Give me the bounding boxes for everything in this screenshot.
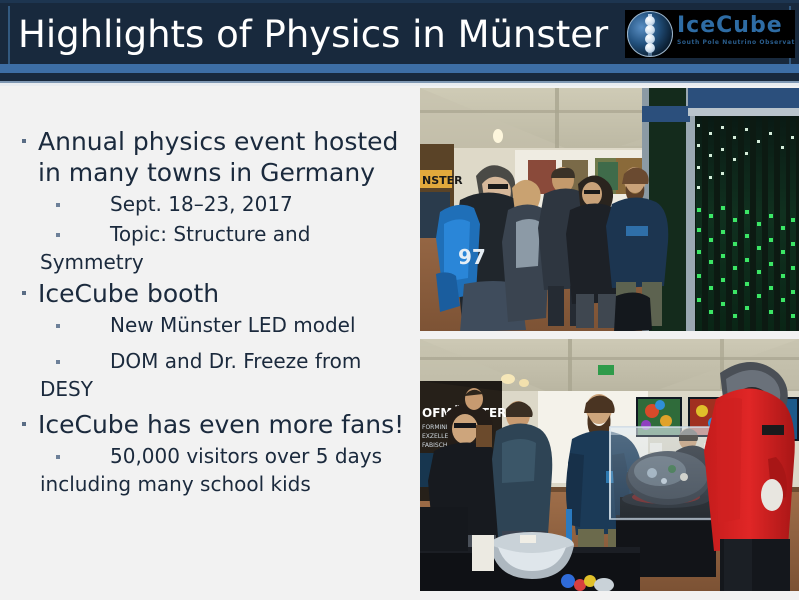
sub-bullet-marker-icon: [56, 203, 60, 207]
sub-bullet-item: 50,000 visitors over 5 days including ma…: [0, 442, 420, 498]
slide: Highlights of Physics in Münster IceCube…: [0, 0, 799, 600]
bullet-item: IceCube booth: [0, 278, 420, 309]
sub-bullet-item: New Münster LED model: [0, 311, 420, 339]
sub-bullet-text: DOM and Dr. Freeze from DESY: [40, 347, 420, 403]
sub-bullet-text: New Münster LED model: [40, 311, 420, 339]
svg-text:NSTER: NSTER: [422, 174, 463, 187]
bullet-text: IceCube has even more fans!: [38, 410, 404, 439]
logo-wordmark: IceCube South Pole Neutrino Observatory: [677, 14, 793, 47]
logo-name: IceCube: [677, 14, 793, 38]
svg-text:97: 97: [458, 245, 486, 269]
sub-bullet-text: 50,000 visitors over 5 days including ma…: [40, 442, 420, 498]
sub-bullet-text: Topic: Structure and Symmetry: [40, 220, 420, 276]
content-body: Annual physics event hosted in many town…: [0, 126, 420, 498]
photo-booth-dom-display: OFMÜNSTER FORMINISTRY EXZELLENT FABISCH: [420, 339, 799, 591]
sub-bullet-item: Topic: Structure and Symmetry: [0, 220, 420, 276]
sub-bullet-item: DOM and Dr. Freeze from DESY: [0, 347, 420, 403]
bullet-item: IceCube has even more fans!: [0, 409, 420, 440]
globe-icon: [627, 11, 673, 57]
page-title: Highlights of Physics in Münster: [18, 12, 608, 58]
sub-bullet-marker-icon: [56, 233, 60, 237]
sub-bullet-marker-icon: [56, 455, 60, 459]
accent-stripe-blue: [0, 64, 799, 73]
bullet-item: Annual physics event hosted in many town…: [0, 126, 420, 188]
bullet-marker-icon: [22, 139, 26, 143]
sub-bullet-text: Sept. 18–23, 2017: [40, 190, 420, 218]
bullet-text: Annual physics event hosted in many town…: [38, 127, 398, 187]
bullet-text: IceCube booth: [38, 279, 219, 308]
sub-bullet-marker-icon: [56, 324, 60, 328]
accent-stripe-navy: [0, 73, 799, 81]
sub-bullet-marker-icon: [56, 360, 60, 364]
accent-stripe-pale: [0, 83, 799, 86]
logo-tagline: South Pole Neutrino Observatory: [677, 39, 793, 47]
dom-sensor-icon: [645, 43, 655, 53]
icecube-logo: IceCube South Pole Neutrino Observatory: [625, 10, 795, 58]
bullet-marker-icon: [22, 291, 26, 295]
bullet-marker-icon: [22, 422, 26, 426]
sub-bullet-item: Sept. 18–23, 2017: [0, 190, 420, 218]
photo-booth-led-model: NSTER: [420, 88, 799, 331]
